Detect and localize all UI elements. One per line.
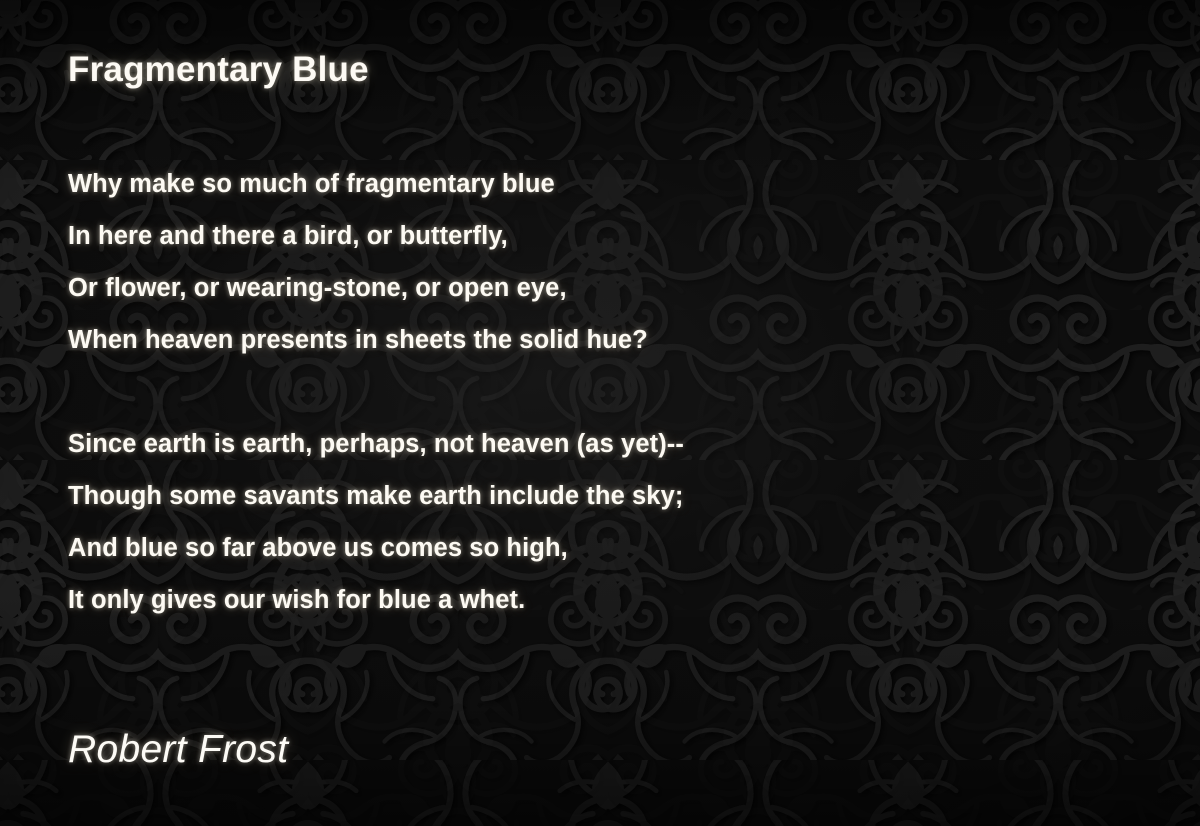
poem-line: It only gives our wish for blue a whet. — [68, 574, 1068, 626]
poem-line: Why make so much of fragmentary blue — [68, 158, 1068, 210]
poem-line: Though some savants make earth include t… — [68, 470, 1068, 522]
poem-line: In here and there a bird, or butterfly, — [68, 210, 1068, 262]
poem-author: Robert Frost — [68, 728, 288, 772]
poem-content: Fragmentary Blue Why make so much of fra… — [0, 0, 1200, 826]
poem-text: Why make so much of fragmentary blue In … — [68, 158, 1068, 626]
poem-stanza: Why make so much of fragmentary blue In … — [68, 158, 1068, 366]
poem-line: When heaven presents in sheets the solid… — [68, 314, 1068, 366]
poem-stanza: Since earth is earth, perhaps, not heave… — [68, 418, 1068, 626]
poem-line: And blue so far above us comes so high, — [68, 522, 1068, 574]
page-title: Fragmentary Blue — [68, 50, 369, 90]
poem-line: Or flower, or wearing-stone, or open eye… — [68, 262, 1068, 314]
poem-line: Since earth is earth, perhaps, not heave… — [68, 418, 1068, 470]
poem-card: Fragmentary Blue Why make so much of fra… — [0, 0, 1200, 826]
